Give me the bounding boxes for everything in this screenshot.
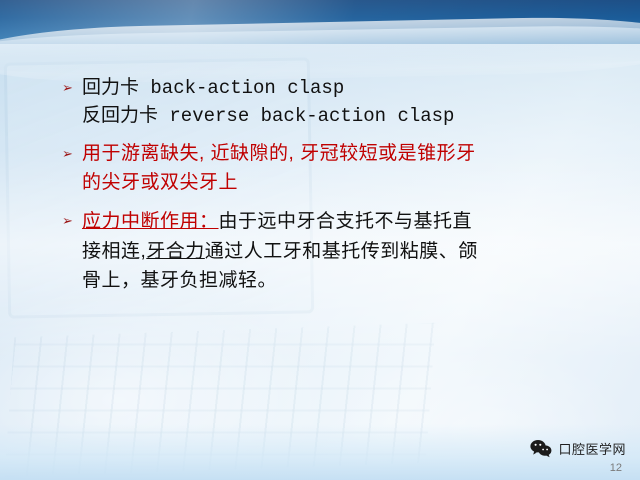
footer-brand: 口腔医学网 <box>530 439 626 458</box>
bullet-arrow-icon: ➢ <box>62 81 82 94</box>
page-number: 12 <box>610 462 622 474</box>
bullet-3-line-2-c: 通过人工牙和基托传到粘膜、颌 <box>205 241 478 262</box>
bullet-3-line-1: 应力中断作用：由于远中牙合支托不与基托直 <box>82 207 608 236</box>
bullet-item-1: ➢ 回力卡 back-action clasp 反回力卡 reverse bac… <box>62 74 608 130</box>
bullet-item-2: ➢ 用于游离缺失, 近缺隙的, 牙冠较短或是锥形牙 的尖牙或双尖牙上 <box>62 140 608 197</box>
bullet-arrow-icon: ➢ <box>62 147 82 160</box>
bullet-3-line-2-a: 接相连, <box>82 241 146 262</box>
bullet-1-line-1: 回力卡 back-action clasp <box>82 74 608 102</box>
bullet-1-line-2: 反回力卡 reverse back-action clasp <box>82 102 608 130</box>
bullet-1-text: 回力卡 back-action clasp 反回力卡 reverse back-… <box>82 74 608 130</box>
bullet-3-line-1-rest: 由于远中牙合支托不与基托直 <box>219 211 473 232</box>
bullet-3-line-2-underlined: 牙合力 <box>146 241 205 262</box>
wechat-icon <box>530 439 552 458</box>
bullet-3-line-2: 接相连,牙合力通过人工牙和基托传到粘膜、颌 <box>82 237 608 266</box>
bullet-3-text: 应力中断作用：由于远中牙合支托不与基托直 接相连,牙合力通过人工牙和基托传到粘膜… <box>82 207 608 295</box>
footer-brand-label: 口腔医学网 <box>558 439 626 458</box>
bullet-3-line-3: 骨上，基牙负担减轻。 <box>82 266 608 295</box>
bullet-3-heading: 应力中断作用： <box>82 211 219 232</box>
bullet-2-line-1: 用于游离缺失, 近缺隙的, 牙冠较短或是锥形牙 <box>82 140 608 169</box>
bullet-item-3: ➢ 应力中断作用：由于远中牙合支托不与基托直 接相连,牙合力通过人工牙和基托传到… <box>62 207 608 295</box>
slide-content: ➢ 回力卡 back-action clasp 反回力卡 reverse bac… <box>62 74 608 298</box>
bullet-2-text: 用于游离缺失, 近缺隙的, 牙冠较短或是锥形牙 的尖牙或双尖牙上 <box>82 140 608 197</box>
bullet-2-line-2: 的尖牙或双尖牙上 <box>82 169 608 198</box>
slide-canvas: ➢ 回力卡 back-action clasp 反回力卡 reverse bac… <box>0 0 640 480</box>
bullet-arrow-icon: ➢ <box>62 214 82 227</box>
